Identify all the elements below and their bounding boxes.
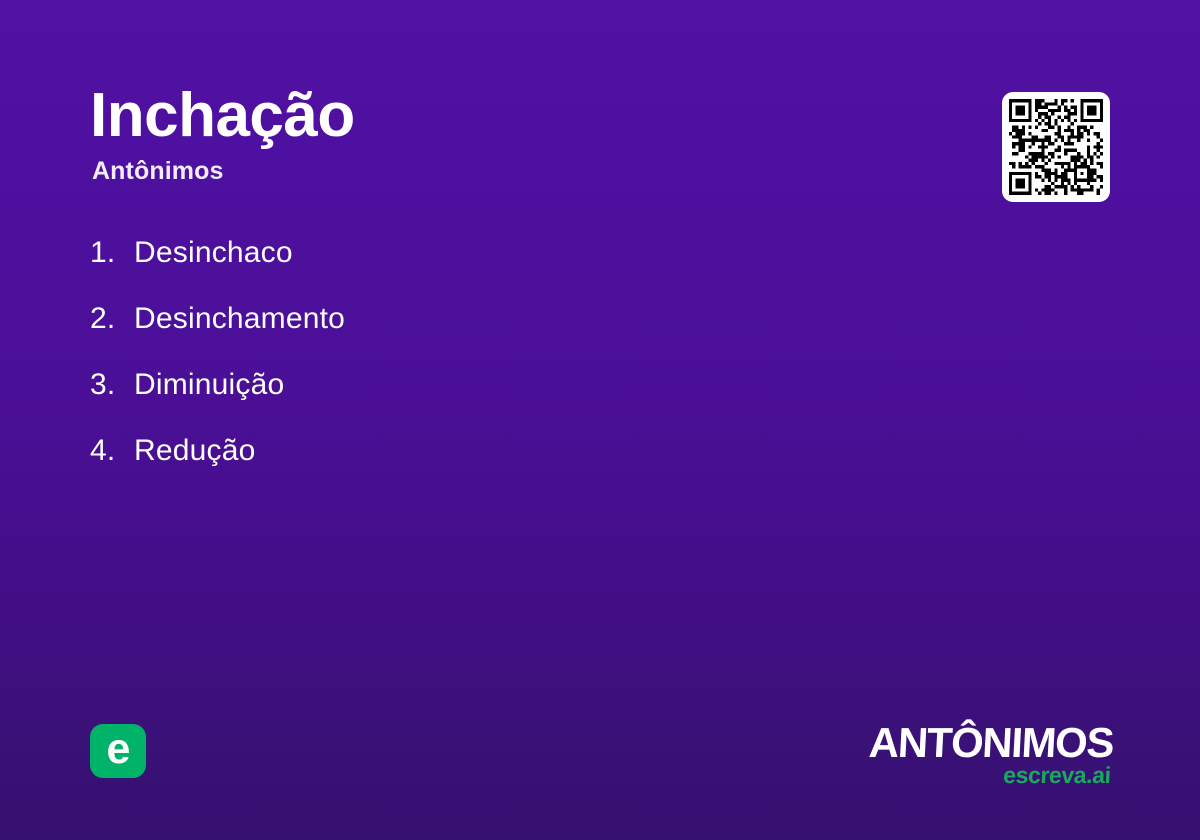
antonyms-list: 1. Desinchaco 2. Desinchamento 3. Diminu… [90, 236, 850, 500]
brand-logo-title: ANTÔNIMOS [812, 722, 1114, 763]
list-item-index: 2. [90, 302, 134, 336]
brand-logo-domain: escreva.ai [812, 764, 1111, 787]
list-item: 2. Desinchamento [90, 302, 850, 368]
list-item: 4. Redução [90, 434, 850, 500]
list-item-label: Redução [134, 434, 256, 468]
list-item-index: 3. [90, 368, 134, 402]
page-title: Inchação [90, 84, 810, 147]
page-subtitle: Antônimos [92, 157, 810, 186]
list-item-index: 1. [90, 236, 134, 270]
antonyms-card: Inchação Antônimos 1. Desinchaco 2. Desi… [0, 0, 1200, 840]
list-item: 3. Diminuição [90, 368, 850, 434]
list-item-label: Diminuição [134, 368, 284, 402]
brand-mark-letter: e [107, 728, 130, 771]
list-item-label: Desinchaco [134, 236, 293, 270]
escreva-app-icon[interactable]: e [90, 724, 146, 778]
list-item: 1. Desinchaco [90, 236, 850, 302]
qr-code-icon [1009, 99, 1103, 195]
list-item-label: Desinchamento [134, 302, 345, 336]
list-item-index: 4. [90, 434, 134, 468]
qr-code-panel[interactable] [1002, 92, 1110, 202]
card-header: Inchação Antônimos [90, 84, 810, 186]
brand-logo: ANTÔNIMOS escreva.ai [812, 722, 1112, 787]
